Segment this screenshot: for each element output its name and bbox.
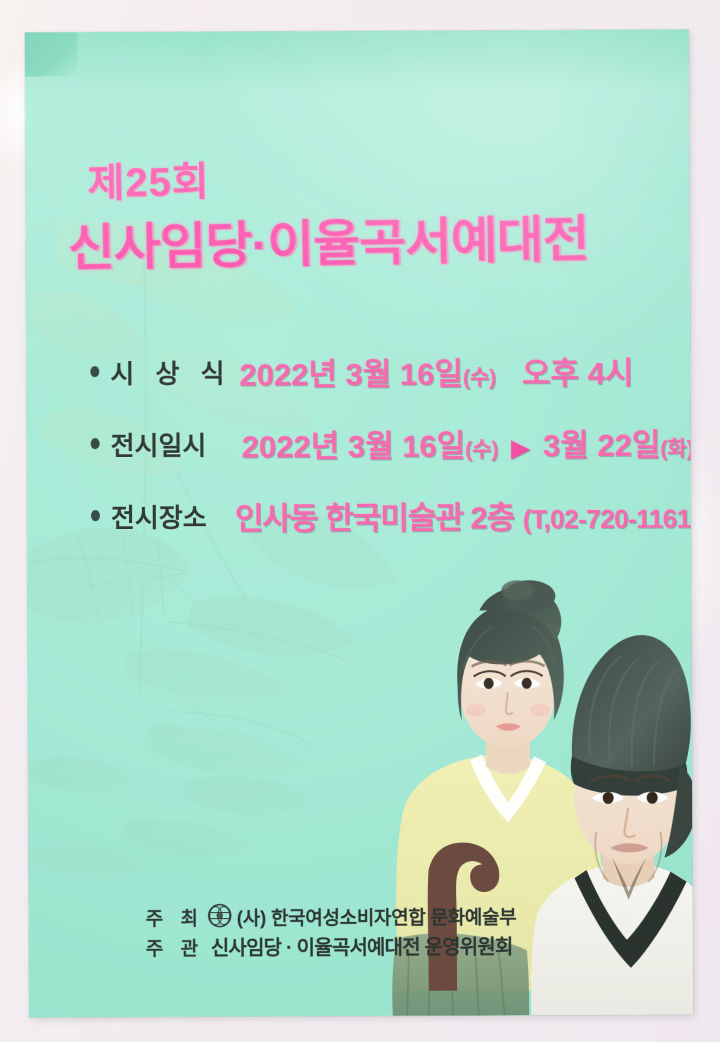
bullet-icon [91, 510, 100, 521]
info-row-exhibition-dates: 전시일시 2022년 3월 16일(수) ▶ 3월 22일(화) [27, 420, 691, 495]
exhibit-start-date: 2022년 3월 16일 [242, 429, 466, 465]
credit-line-organizer: 주 관 신사임당 · 이율곡서예대전 운영위원회 [29, 930, 693, 963]
credit-line-host: 주 최 (사) 한국여성소비자연합 문화예술부 [29, 900, 693, 933]
edition-number: 제25회 [87, 149, 210, 209]
credit-text-organizer: 신사임당 · 이율곡서예대전 운영위원회 [211, 930, 513, 960]
venue-phone: (T,02-720-1161) [523, 504, 693, 535]
range-arrow-icon: ▶ [507, 434, 534, 462]
info-list: 시 상 식 2022년 3월 16일(수) 오후 4시 전시일시 2022년 3… [26, 348, 691, 567]
info-value-venue: 인사동 한국미술관 2층 (T,02-720-1161) [235, 492, 693, 539]
info-label-exhibition-dates: 전시일시 [111, 426, 207, 463]
info-value-exhibition-dates: 2022년 3월 16일(수) ▶ 3월 22일(화) [242, 420, 694, 467]
info-label-ceremony: 시 상 식 [110, 354, 231, 392]
exhibit-start-weekday: (수) [465, 438, 498, 461]
bullet-icon [91, 438, 100, 449]
credit-text-host: (사) 한국여성소비자연합 문화예술부 [237, 902, 517, 930]
credit-label-organizer: 주 관 [146, 934, 204, 961]
exhibit-end-date: 3월 22일 [543, 428, 661, 464]
info-row-venue: 전시장소 인사동 한국미술관 2층 (T,02-720-1161) [27, 492, 691, 567]
venue-name: 인사동 한국미술관 2층 [235, 500, 514, 536]
top-green-band [25, 30, 689, 93]
ceremony-time: 오후 4시 [522, 356, 634, 391]
info-value-ceremony: 2022년 3월 16일(수) 오후 4시 [239, 348, 633, 395]
ceremony-date: 2022년 3월 16일 [239, 357, 463, 393]
credits-block: 주 최 (사) 한국여성소비자연합 문화예술부 주 관 신사임당 · 이율곡서예… [29, 900, 693, 963]
exhibit-end-weekday: (화) [660, 438, 693, 461]
info-row-ceremony: 시 상 식 2022년 3월 16일(수) 오후 4시 [26, 348, 690, 423]
ceremony-weekday: (수) [463, 366, 496, 389]
organization-emblem-icon [207, 903, 233, 929]
poster-sheet: 제25회 신사임당·이율곡서예대전 시 상 식 2022년 3월 16일(수) … [25, 30, 693, 1018]
credit-label-host: 주 최 [146, 904, 204, 931]
page-title: 신사임당·이율곡서예대전 [67, 197, 690, 280]
info-label-venue: 전시장소 [111, 498, 207, 535]
corner-green-patch [25, 32, 77, 76]
bullet-icon [90, 366, 99, 377]
